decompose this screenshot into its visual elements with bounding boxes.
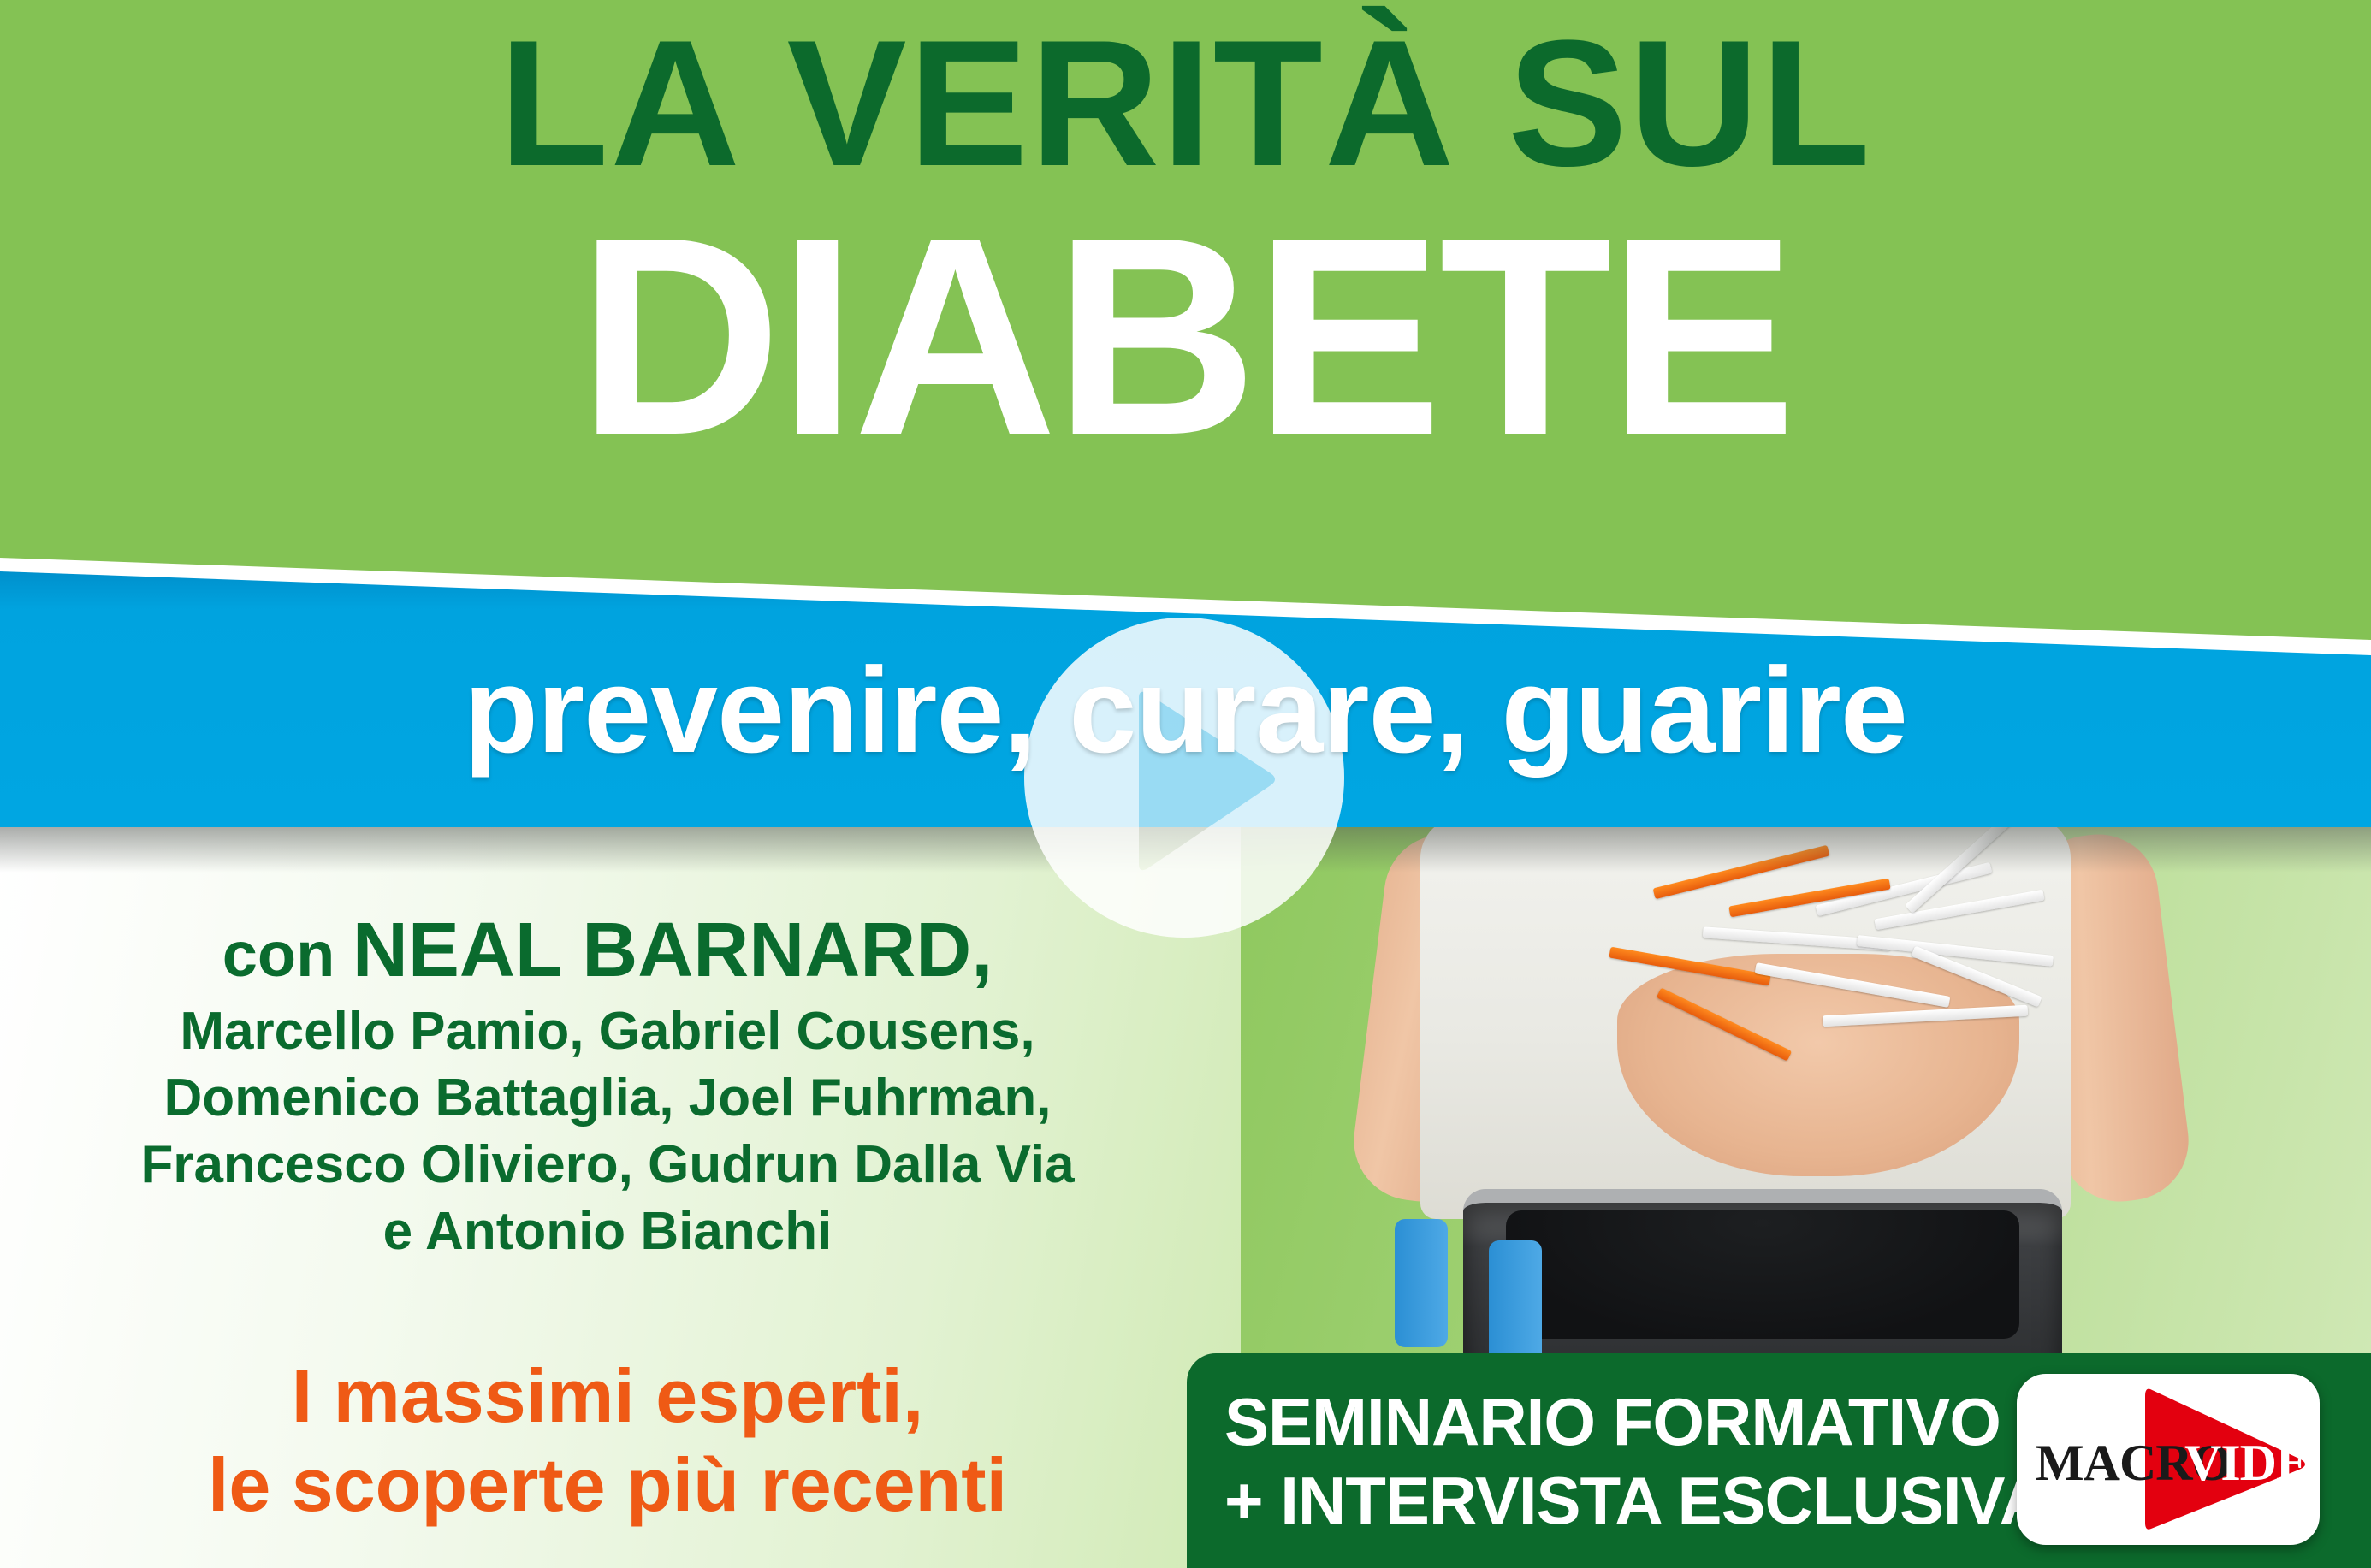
photo-bin-clip — [1395, 1219, 1448, 1347]
photo-bin-opening — [1506, 1210, 2019, 1339]
poster-root: prevenire, curare, guarire LA VERITÀ SUL… — [0, 0, 2371, 1568]
photo-syringe-pile — [1600, 851, 2045, 1108]
photo-bin-clip — [1489, 1240, 1542, 1360]
syringes-photo — [1241, 825, 2371, 1360]
macro-video-logo[interactable]: MACRO VIDEO — [2017, 1374, 2320, 1545]
play-icon[interactable] — [1024, 618, 1344, 938]
banner-line-2: + INTERVISTA ESCLUSIVA — [1224, 1461, 2047, 1540]
banner-text-wrapper: SEMINARIO FORMATIVO + INTERVISTA ESCLUSI… — [1187, 1382, 2047, 1540]
logo-word-video: VIDEO — [2184, 1434, 2320, 1493]
banner-line-1: SEMINARIO FORMATIVO — [1224, 1382, 2047, 1461]
